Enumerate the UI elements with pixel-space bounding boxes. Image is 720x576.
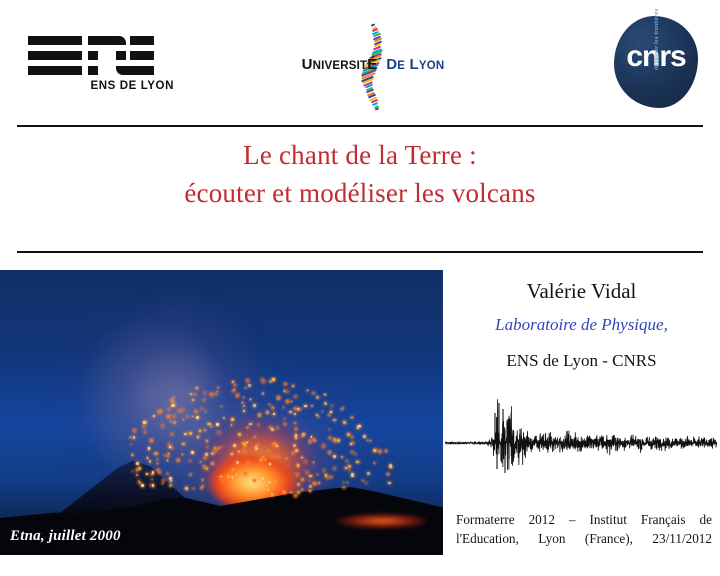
footer-line-2: l'Education, Lyon (France), 23/11/2012 bbox=[456, 529, 712, 548]
lava-spark bbox=[236, 394, 239, 397]
lava-spark bbox=[313, 439, 315, 441]
lava-spark bbox=[272, 378, 274, 380]
lava-spark bbox=[246, 379, 249, 382]
lava-spark bbox=[272, 407, 274, 409]
lava-spark bbox=[181, 408, 184, 411]
lava-spark bbox=[284, 418, 285, 419]
speaker-lab: Laboratoire de Physique, bbox=[443, 315, 720, 335]
lava-spark bbox=[327, 477, 329, 479]
speaker-affiliation: ENS de Lyon - CNRS bbox=[443, 351, 720, 371]
lava-spark bbox=[316, 414, 318, 416]
lava-spark bbox=[379, 450, 382, 453]
lava-spark bbox=[351, 451, 353, 453]
lava-spark bbox=[283, 407, 284, 408]
lava-spark bbox=[296, 473, 299, 476]
divider-middle bbox=[17, 251, 703, 253]
lava-spark bbox=[211, 462, 214, 465]
lava-spark bbox=[324, 402, 327, 405]
lava-spark bbox=[297, 491, 300, 494]
lava-spark bbox=[294, 494, 297, 497]
lava-spark bbox=[328, 451, 331, 454]
ens-bar bbox=[88, 36, 126, 45]
lava-spark bbox=[236, 461, 239, 464]
lava-spark bbox=[309, 440, 311, 442]
lava-spark bbox=[171, 433, 173, 435]
ens-bar bbox=[88, 51, 98, 60]
lava-spark bbox=[214, 449, 217, 452]
speaker-name: Valérie Vidal bbox=[443, 279, 720, 304]
lava-spark bbox=[333, 455, 336, 458]
lava-spark bbox=[389, 464, 392, 467]
lava-spark bbox=[184, 433, 187, 436]
helix-dash bbox=[375, 107, 379, 110]
lava-spark bbox=[342, 407, 344, 409]
lava-spark bbox=[260, 459, 262, 461]
lava-spark bbox=[192, 416, 193, 417]
lava-spark bbox=[194, 394, 195, 395]
lava-spark bbox=[363, 435, 366, 438]
lava-spark bbox=[347, 433, 350, 436]
lava-spark bbox=[295, 437, 297, 439]
lava-spark bbox=[350, 443, 352, 445]
ens-logo-caption: ENS DE LYON bbox=[28, 80, 174, 92]
lava-spark bbox=[259, 475, 261, 477]
lava-spark bbox=[182, 443, 184, 445]
lava-spark bbox=[367, 472, 370, 475]
lava-spark bbox=[168, 453, 169, 454]
lava-spark bbox=[192, 399, 194, 401]
photo-caption: Etna, juillet 2000 bbox=[10, 528, 121, 545]
lava-spark bbox=[149, 460, 152, 463]
lava-spark bbox=[138, 467, 141, 470]
lava-spark bbox=[294, 422, 296, 424]
lava-spark bbox=[178, 410, 180, 412]
lava-spark bbox=[322, 444, 325, 447]
lava-spark bbox=[221, 406, 222, 407]
lava-spark bbox=[171, 404, 174, 407]
lava-spark bbox=[269, 463, 271, 465]
lava-spark bbox=[257, 444, 259, 446]
lava-spark bbox=[243, 450, 246, 453]
ens-bar bbox=[130, 51, 154, 60]
lava-spark bbox=[218, 447, 220, 449]
lava-spark bbox=[246, 442, 248, 444]
lava-spark bbox=[196, 387, 198, 389]
lava-spark bbox=[313, 462, 314, 463]
lava-spark bbox=[199, 430, 201, 432]
lava-spark bbox=[337, 439, 340, 442]
lava-spark bbox=[253, 404, 256, 407]
lava-spark bbox=[299, 409, 300, 410]
lava-spark bbox=[210, 393, 213, 396]
lava-spark bbox=[286, 400, 289, 403]
ens-bar bbox=[28, 36, 82, 45]
ens-bar bbox=[116, 66, 154, 75]
lava-spark bbox=[232, 390, 234, 392]
lava-spark bbox=[157, 463, 158, 464]
ens-bar bbox=[88, 66, 98, 75]
lava-spark bbox=[222, 446, 223, 447]
lava-spark bbox=[249, 423, 252, 426]
lava-spark bbox=[333, 467, 336, 470]
presentation-slide: ENS DE LYON UNIVERSITÉ DE LYON cnrs dépa… bbox=[0, 0, 720, 576]
ens-bar bbox=[28, 66, 82, 75]
lava-spark bbox=[170, 399, 173, 402]
seismogram-trace bbox=[445, 399, 717, 470]
lava-spark bbox=[331, 405, 333, 407]
ens-logo-mark bbox=[28, 36, 154, 76]
universite-de-lyon-logo: UNIVERSITÉ DE LYON bbox=[278, 24, 468, 108]
lava-spark bbox=[309, 475, 311, 477]
lava-spark bbox=[277, 396, 280, 399]
lava-spark bbox=[190, 393, 192, 395]
photo-lava-flow bbox=[330, 513, 425, 529]
slide-footer: Formaterre 2012 – Institut Français de l… bbox=[456, 510, 712, 548]
lava-spark bbox=[352, 442, 354, 444]
lava-spark bbox=[258, 413, 261, 416]
lava-spark bbox=[262, 380, 265, 383]
lava-spark bbox=[232, 468, 235, 471]
lava-spark bbox=[273, 413, 275, 415]
title-line-2: écouter et modéliser les volcans bbox=[0, 174, 720, 212]
lava-spark bbox=[152, 484, 155, 487]
lava-spark bbox=[158, 471, 161, 474]
lava-spark bbox=[238, 433, 241, 436]
logo-band: ENS DE LYON UNIVERSITÉ DE LYON cnrs dépa… bbox=[0, 0, 720, 126]
seismogram-waveform bbox=[445, 398, 717, 488]
lava-spark bbox=[167, 460, 168, 461]
lava-spark bbox=[161, 424, 164, 427]
lava-spark bbox=[284, 390, 286, 392]
cnrs-tagline: dépasser les frontières bbox=[654, 24, 660, 70]
lava-spark bbox=[223, 417, 224, 418]
lava-spark bbox=[242, 402, 243, 403]
lava-spark bbox=[234, 389, 235, 390]
lava-spark bbox=[133, 429, 136, 432]
lava-spark bbox=[150, 484, 152, 486]
lava-spark bbox=[316, 396, 319, 399]
lava-spark bbox=[374, 462, 375, 463]
lava-spark bbox=[264, 459, 266, 461]
cnrs-logo: cnrs dépasser les frontières bbox=[614, 16, 698, 108]
lava-spark bbox=[151, 474, 152, 475]
lava-spark bbox=[204, 429, 207, 432]
lava-spark bbox=[189, 473, 192, 476]
lava-spark bbox=[217, 391, 218, 392]
divider-top bbox=[17, 125, 703, 127]
lava-spark bbox=[167, 415, 170, 418]
lava-spark bbox=[151, 479, 153, 481]
lava-spark bbox=[216, 423, 219, 426]
lava-spark bbox=[255, 448, 258, 451]
lava-spark bbox=[318, 416, 320, 418]
lava-spark bbox=[294, 395, 297, 398]
lava-spark bbox=[203, 399, 205, 401]
lava-spark bbox=[196, 416, 199, 419]
lava-spark bbox=[217, 431, 220, 434]
lava-spark bbox=[207, 423, 209, 425]
lava-spark bbox=[345, 467, 347, 469]
footer-line-1: Formaterre 2012 – Institut Français de bbox=[456, 510, 712, 529]
lava-spark bbox=[362, 480, 364, 482]
lava-spark bbox=[173, 421, 176, 424]
lava-spark bbox=[177, 459, 180, 462]
lava-spark bbox=[171, 447, 173, 449]
lava-spark bbox=[301, 478, 304, 481]
ens-de-lyon-logo: ENS DE LYON bbox=[28, 36, 174, 98]
speaker-column: Valérie Vidal Laboratoire de Physique, E… bbox=[443, 270, 720, 576]
lava-spark bbox=[234, 385, 236, 387]
lava-spark bbox=[275, 481, 276, 482]
lava-spark bbox=[351, 417, 352, 418]
lava-spark bbox=[385, 450, 387, 452]
universite-de-lyon-wordmark: UNIVERSITÉ DE LYON bbox=[278, 56, 468, 73]
volcano-photo: Etna, juillet 2000 bbox=[0, 270, 443, 555]
lava-spark bbox=[143, 426, 145, 428]
lava-spark bbox=[309, 485, 312, 488]
ens-bar bbox=[130, 36, 154, 45]
lava-spark bbox=[168, 409, 170, 411]
lava-spark bbox=[343, 421, 346, 424]
lava-spark bbox=[283, 491, 284, 492]
lava-spark bbox=[152, 471, 155, 474]
lava-spark bbox=[220, 477, 223, 480]
lava-spark bbox=[304, 460, 307, 463]
lava-spark bbox=[323, 469, 325, 471]
lava-spark bbox=[205, 453, 207, 455]
lava-spark bbox=[306, 471, 309, 474]
lava-spark bbox=[141, 484, 144, 487]
lava-spark bbox=[293, 444, 296, 447]
slide-title: Le chant de la Terre : écouter et modéli… bbox=[0, 136, 720, 212]
title-line-1: Le chant de la Terre : bbox=[0, 136, 720, 174]
lava-spark bbox=[220, 476, 222, 478]
lava-spark bbox=[244, 472, 247, 475]
lava-spark bbox=[269, 426, 272, 429]
lava-spark bbox=[253, 479, 256, 482]
seismogram-svg bbox=[445, 398, 717, 488]
lava-spark bbox=[294, 413, 296, 415]
ens-bar bbox=[28, 51, 82, 60]
lava-spark bbox=[301, 489, 303, 491]
lava-spark bbox=[248, 384, 251, 387]
lava-spark bbox=[231, 476, 234, 479]
lava-spark bbox=[244, 443, 246, 445]
ens-bar bbox=[116, 51, 126, 60]
lava-spark bbox=[206, 467, 209, 470]
